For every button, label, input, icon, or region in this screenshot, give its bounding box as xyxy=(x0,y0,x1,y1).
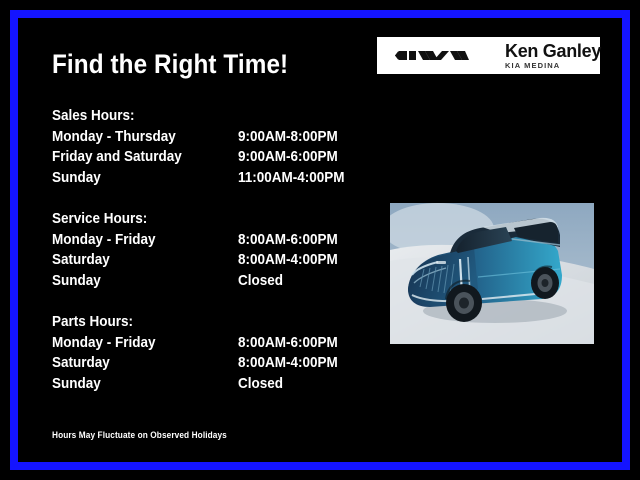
hours-row: Sunday 11:00AM-4:00PM xyxy=(52,168,382,189)
hours-time: 8:00AM-4:00PM xyxy=(238,353,338,374)
vehicle-photo xyxy=(390,203,594,344)
hours-group-title: Parts Hours: xyxy=(52,312,349,333)
hours-day: Monday - Friday xyxy=(52,230,219,251)
hours-group-parts: Parts Hours: Monday - Friday 8:00AM-6:00… xyxy=(52,312,382,394)
holiday-disclaimer: Hours May Fluctuate on Observed Holidays xyxy=(52,430,227,440)
hours-time: Closed xyxy=(238,271,283,292)
hours-time: 8:00AM-4:00PM xyxy=(238,250,338,271)
hours-group-title: Service Hours: xyxy=(52,209,349,230)
hours-time: 11:00AM-4:00PM xyxy=(238,168,345,189)
hours-row: Monday - Thursday 9:00AM-8:00PM xyxy=(52,127,382,148)
poster: Find the Right Time! Ken Ganley KIA MEDI… xyxy=(0,0,640,480)
logo-divider xyxy=(482,43,483,69)
hours-group-service: Service Hours: Monday - Friday 8:00AM-6:… xyxy=(52,209,382,291)
hours-row: Sunday Closed xyxy=(52,271,382,292)
hours-time: Closed xyxy=(238,374,283,395)
hours-time: 8:00AM-6:00PM xyxy=(238,230,338,251)
hours-day: Saturday xyxy=(52,353,219,374)
hours-day: Monday - Thursday xyxy=(52,127,219,148)
dealer-subtitle: KIA MEDINA xyxy=(505,61,601,70)
hours-row: Monday - Friday 8:00AM-6:00PM xyxy=(52,333,382,354)
hours-day: Sunday xyxy=(52,374,219,395)
page-title: Find the Right Time! xyxy=(52,49,288,80)
hours-row: Saturday 8:00AM-4:00PM xyxy=(52,250,382,271)
dealer-name: Ken Ganley xyxy=(505,42,601,61)
hours-time: 9:00AM-8:00PM xyxy=(238,127,338,148)
hours-time: 9:00AM-6:00PM xyxy=(238,147,338,168)
kia-logo-icon xyxy=(394,46,470,65)
hours-group-sales: Sales Hours: Monday - Thursday 9:00AM-8:… xyxy=(52,106,382,188)
dealer-text-block: Ken Ganley KIA MEDINA xyxy=(505,42,601,70)
hours-list: Sales Hours: Monday - Thursday 9:00AM-8:… xyxy=(52,106,382,415)
hours-day: Sunday xyxy=(52,271,219,292)
poster-content: Find the Right Time! Ken Ganley KIA MEDI… xyxy=(18,18,622,462)
hours-row: Sunday Closed xyxy=(52,374,382,395)
hours-day: Friday and Saturday xyxy=(52,147,219,168)
hours-row: Saturday 8:00AM-4:00PM xyxy=(52,353,382,374)
hours-row: Friday and Saturday 9:00AM-6:00PM xyxy=(52,147,382,168)
hours-group-title: Sales Hours: xyxy=(52,106,349,127)
hours-day: Sunday xyxy=(52,168,219,189)
hours-row: Monday - Friday 8:00AM-6:00PM xyxy=(52,230,382,251)
hours-day: Saturday xyxy=(52,250,219,271)
hours-day: Monday - Friday xyxy=(52,333,219,354)
hours-time: 8:00AM-6:00PM xyxy=(238,333,338,354)
dealer-logo-lockup: Ken Ganley KIA MEDINA xyxy=(377,37,600,74)
